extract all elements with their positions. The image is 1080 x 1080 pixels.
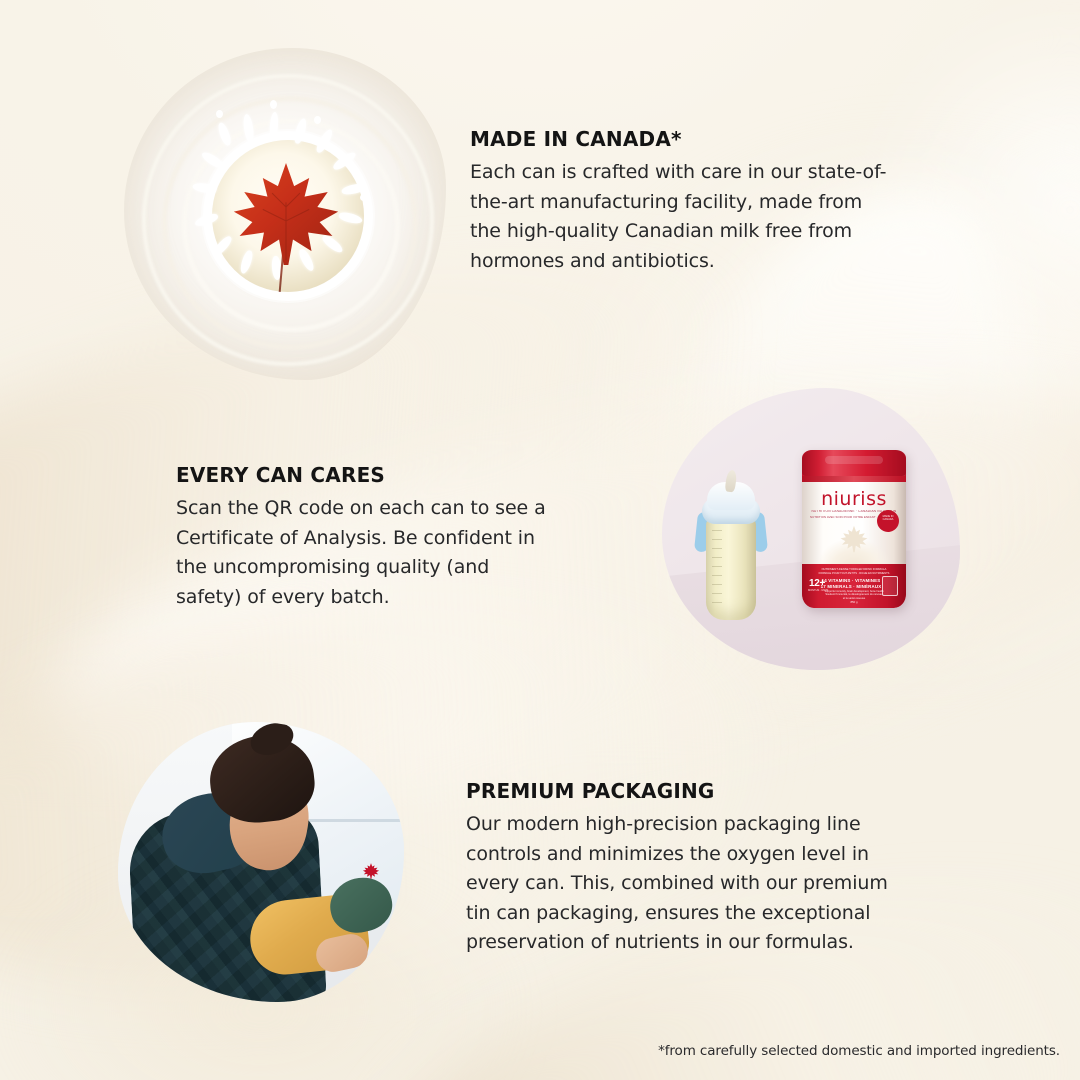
milk-splash-spike xyxy=(269,112,279,138)
mother-baby-photo xyxy=(118,722,404,1002)
feature-heading: MADE IN CANADA* xyxy=(470,127,888,151)
can-seal-mark xyxy=(882,576,898,596)
milk-splash-spike xyxy=(216,121,233,147)
milk-splash-spike xyxy=(192,182,217,194)
can-nutrient-counts: 14 VITAMINS · VITAMINES 17 MINERALS · MI… xyxy=(820,578,882,591)
maple-leaf-icon xyxy=(228,156,344,272)
milk-splash-spike xyxy=(293,117,309,144)
can-claim-line-2: FORMULE POUR TOUT-PETITS · RICHE EN NUTR… xyxy=(802,572,906,575)
maple-leaf-icon xyxy=(362,862,380,880)
milk-droplet xyxy=(314,116,321,124)
feature-body: Each can is crafted with care in our sta… xyxy=(470,158,888,276)
feature-body: Our modern high-precision packaging line… xyxy=(466,810,896,958)
feature-body: Scan the QR code on each can to see a Ce… xyxy=(176,494,554,612)
milk-droplet xyxy=(270,100,277,109)
can-age-sublabel: MONTHS · MOIS xyxy=(808,589,828,592)
feature-heading: EVERY CAN CARES xyxy=(176,463,554,487)
feature-heading: PREMIUM PACKAGING xyxy=(466,779,896,803)
milk-splash-spike xyxy=(200,150,225,170)
bottle-measurement-marks xyxy=(712,530,722,604)
can-brand-name: niuriss xyxy=(802,488,906,510)
footnote: *from carefully selected domestic and im… xyxy=(0,1043,1060,1059)
feature-made-in-canada: MADE IN CANADA* Each can is crafted with… xyxy=(470,127,888,276)
can-badge: MADE IN CANADA xyxy=(877,510,899,532)
milk-splash-spike xyxy=(242,114,255,143)
can-maple-leaf-icon xyxy=(839,524,869,554)
milk-droplet xyxy=(216,110,223,118)
niuriss-can: niuriss NUTRITION CANADIENNE · CANADIAN … xyxy=(802,450,906,608)
can-lid xyxy=(802,450,906,476)
milk-droplet xyxy=(360,194,367,201)
sippy-bottle xyxy=(700,468,762,620)
can-age-label: 12+ xyxy=(809,578,825,589)
product-feature-graphic: niuriss NUTRITION CANADIENNE · CANADIAN … xyxy=(0,0,1080,1080)
can-net-weight: 850 g xyxy=(802,600,906,604)
feature-premium-packaging: PREMIUM PACKAGING Our modern high-precis… xyxy=(466,779,896,958)
can-claim-line-1: NUTRIMENT-DENSE TODDLER DRINK FORMULA xyxy=(802,567,906,571)
feature-every-can-cares: EVERY CAN CARES Scan the QR code on each… xyxy=(176,463,554,612)
